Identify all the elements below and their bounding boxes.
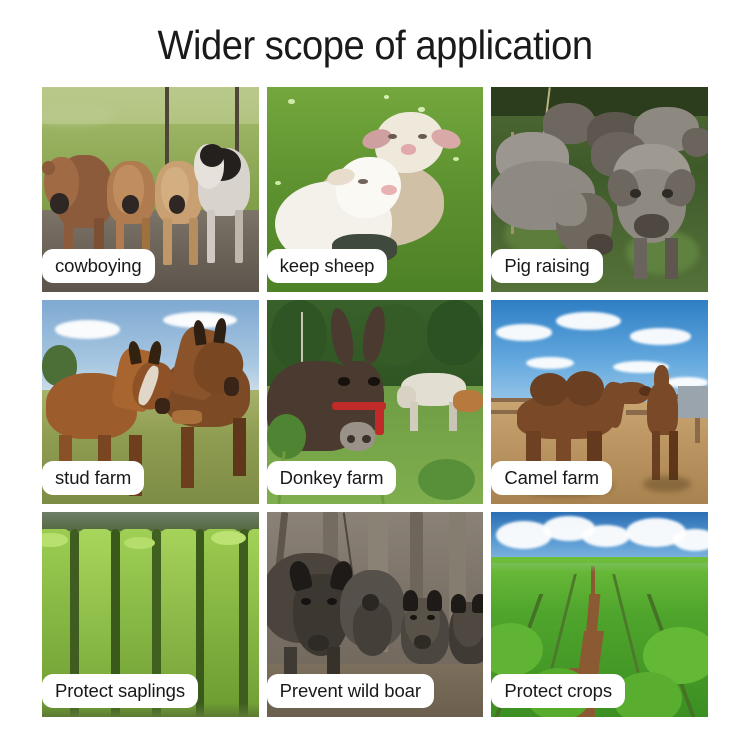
grid-cell-keep-sheep[interactable]: keep sheep xyxy=(267,87,484,292)
cell-label-protect-saplings: Protect saplings xyxy=(42,674,198,708)
cell-label-keep-sheep: keep sheep xyxy=(267,249,388,283)
cell-label-stud-farm: stud farm xyxy=(42,461,144,495)
cell-label-protect-crops: Protect crops xyxy=(491,674,625,708)
application-scope-poster: Wider scope of application xyxy=(0,0,750,750)
grid-cell-pig-raising[interactable]: Pig raising xyxy=(491,87,708,292)
grid-cell-protect-crops[interactable]: Protect crops xyxy=(491,512,708,717)
application-grid: cowboying xyxy=(42,87,708,717)
cell-label-donkey-farm: Donkey farm xyxy=(267,461,397,495)
cell-label-pig-raising: Pig raising xyxy=(491,249,602,283)
grid-cell-camel-farm[interactable]: Camel farm xyxy=(491,300,708,505)
grid-cell-stud-farm[interactable]: stud farm xyxy=(42,300,259,505)
grid-cell-cowboying[interactable]: cowboying xyxy=(42,87,259,292)
cell-label-prevent-wild-boar: Prevent wild boar xyxy=(267,674,434,708)
page-title: Wider scope of application xyxy=(26,20,724,70)
grid-cell-protect-saplings[interactable]: Protect saplings xyxy=(42,512,259,717)
cell-label-cowboying: cowboying xyxy=(42,249,155,283)
cell-label-camel-farm: Camel farm xyxy=(491,461,612,495)
grid-cell-donkey-farm[interactable]: Donkey farm xyxy=(267,300,484,505)
grid-cell-prevent-wild-boar[interactable]: Prevent wild boar xyxy=(267,512,484,717)
